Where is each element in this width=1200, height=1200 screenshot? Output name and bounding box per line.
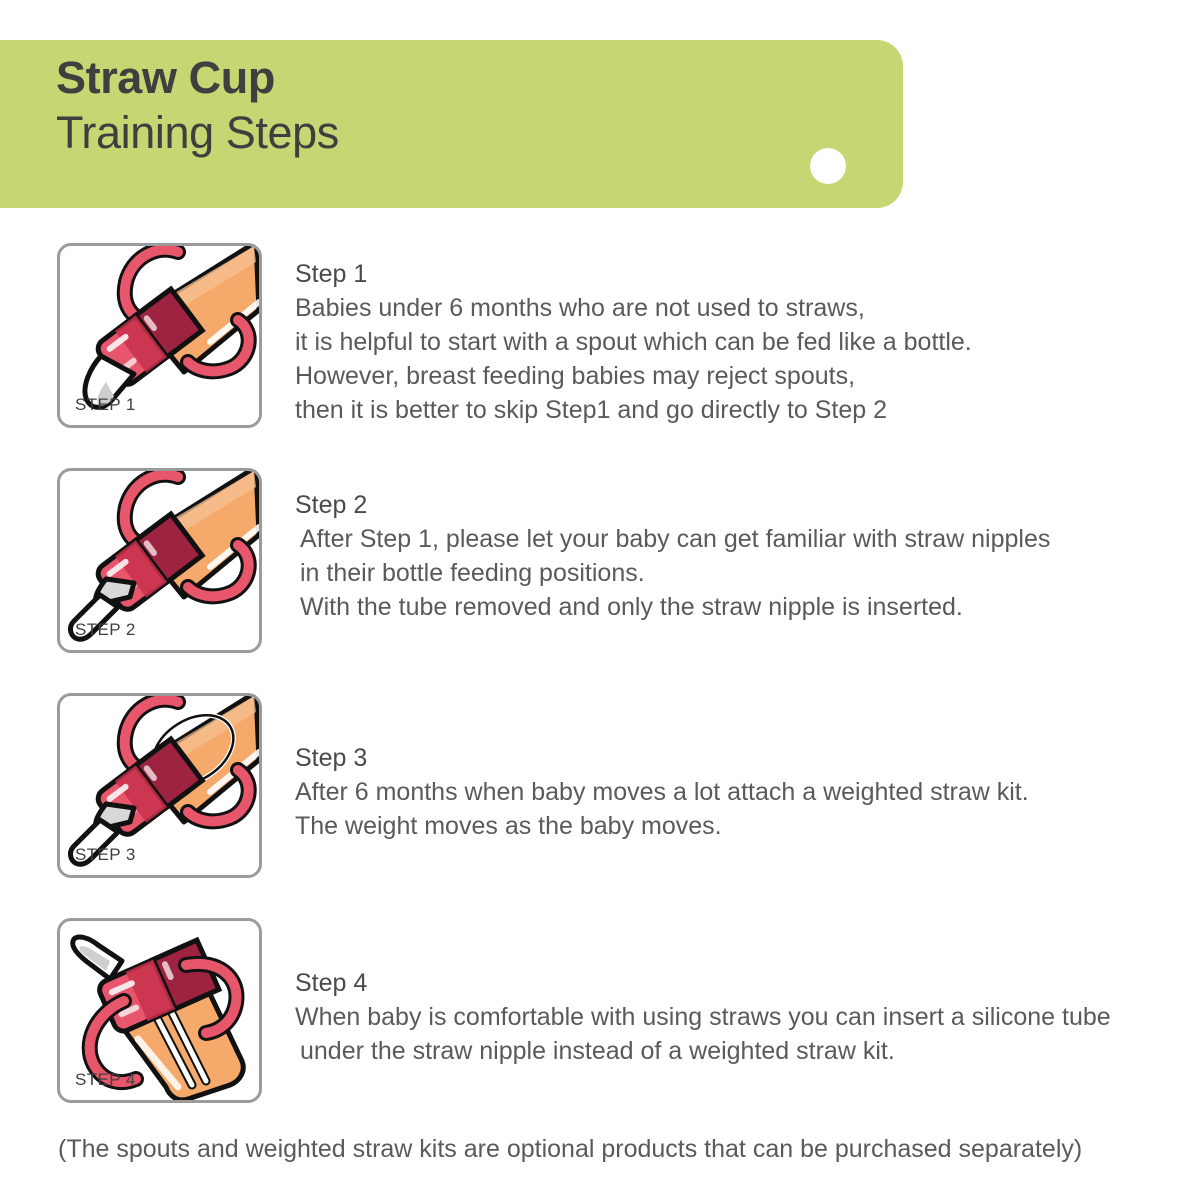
step-2-line-1: After Step 1, please let your baby can g… <box>295 522 1155 556</box>
step-4-line-1: When baby is comfortable with using stra… <box>295 1000 1155 1034</box>
page-subtitle: Training Steps <box>56 109 339 156</box>
step-2-illustration-box: STEP 2 <box>57 468 262 653</box>
step-3-illustration-box: STEP 3 <box>57 693 262 878</box>
step-1-line-1: Babies under 6 months who are not used t… <box>295 291 1155 325</box>
header-banner: Straw Cup Training Steps <box>0 40 903 208</box>
hang-hole-icon <box>810 148 846 184</box>
step-4-text: Step 4 When baby is comfortable with usi… <box>295 966 1155 1068</box>
step-1-line-4: then it is better to skip Step1 and go d… <box>295 393 1155 427</box>
step-4-heading: Step 4 <box>295 966 1155 1000</box>
step-1-illustration-box: STEP 1 <box>57 243 262 428</box>
step-2-heading: Step 2 <box>295 488 1155 522</box>
step-1-text: Step 1 Babies under 6 months who are not… <box>295 257 1155 427</box>
step-4-illustration-box: STEP 4 <box>57 918 262 1103</box>
step-2-line-2: in their bottle feeding positions. <box>295 556 1155 590</box>
step-1-box-label: STEP 1 <box>75 395 136 415</box>
step-2-line-3: With the tube removed and only the straw… <box>295 590 1155 624</box>
page-title: Straw Cup <box>56 54 275 101</box>
step-2-text: Step 2 After Step 1, please let your bab… <box>295 488 1155 624</box>
step-3-heading: Step 3 <box>295 741 1155 775</box>
step-3-text: Step 3 After 6 months when baby moves a … <box>295 741 1155 843</box>
step-1-line-2: it is helpful to start with a spout whic… <box>295 325 1155 359</box>
step-4-box-label: STEP 4 <box>75 1070 136 1090</box>
step-3-line-1: After 6 months when baby moves a lot att… <box>295 775 1155 809</box>
step-3-box-label: STEP 3 <box>75 845 136 865</box>
step-2-box-label: STEP 2 <box>75 620 136 640</box>
footer-note: (The spouts and weighted straw kits are … <box>58 1135 1082 1164</box>
step-1-heading: Step 1 <box>295 257 1155 291</box>
step-3-line-2: The weight moves as the baby moves. <box>295 809 1155 843</box>
step-4-line-2: under the straw nipple instead of a weig… <box>295 1034 1155 1068</box>
step-1-line-3: However, breast feeding babies may rejec… <box>295 359 1155 393</box>
